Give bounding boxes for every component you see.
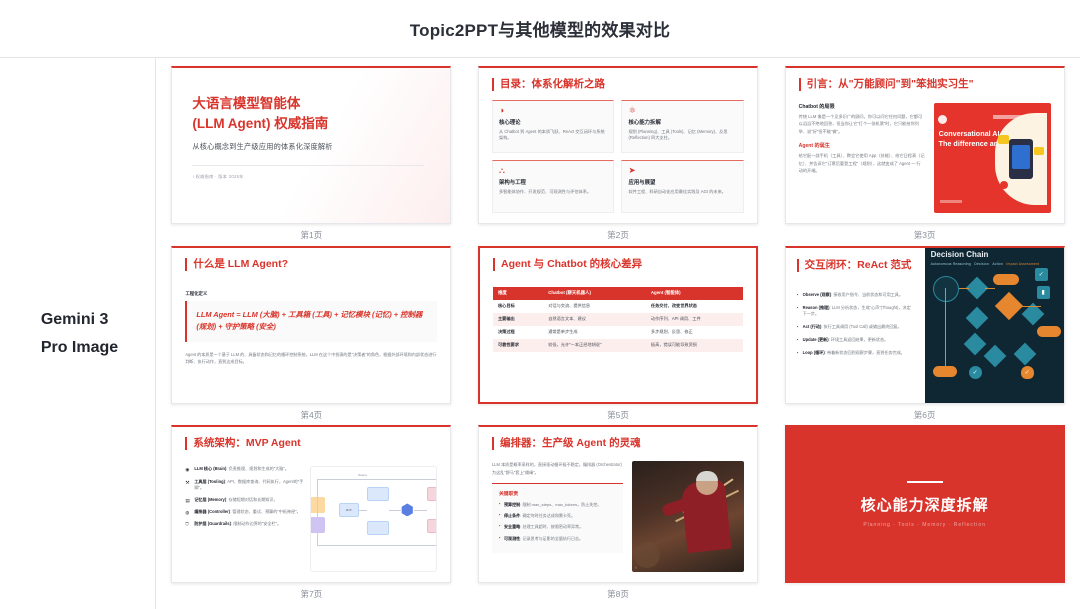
table-cell: 可靠性要求 [493,339,543,352]
diagram-node-mvp: MVP [339,503,359,517]
slide3-illustration: Conversational AI vs chatbots: The diffe… [934,103,1051,213]
responsibility-item: 预算控制: 限制 max_steps、max_tokens，防止失控。 [499,502,616,508]
page-label-3: 第3页 [914,229,936,241]
diagram-frame [317,545,438,546]
photo-background-blur [634,542,660,568]
phone-illustration [995,113,1047,205]
section-divider-rule [907,481,943,483]
slide-cell-9: 核心能力深度拆解 Planning · Tools · Memory · Ref… [775,425,1074,605]
page-header: Topic2PPT与其他模型的效果对比 [0,0,1080,58]
responsibility-text: 限制 max_steps、max_tokens，防止失控。 [522,502,601,507]
model-name: Gemini 3 Pro Image [37,306,118,360]
speech-bubble-icon [938,115,947,124]
slide-cell-3: 引言：从"万能顾问"到"笨拙实习生" Chatbot 的局限 传统 LLM 像是… [775,66,1074,246]
chat-bubble-yellow-2 [1034,147,1044,155]
sub-decision-diamond [965,306,988,329]
architecture-bullet-label: 记忆层 (Memory) [194,497,226,502]
react-bullet-label: Loop (循环) [803,350,825,355]
human-override-pill [993,274,1019,285]
react-bullet-text: 带着新状态回到观察步骤，直到任务完成。 [827,350,905,355]
slide-thumbnail-5[interactable]: Agent 与 Chatbot 的核心差异 维度 Chatbot (聊天机器人)… [478,246,758,404]
responsibility-label: 安全重略 [504,524,520,529]
slide8-title: 编排器：生产级 Agent 的灵魂 [492,437,744,450]
architecture-bullet-text: 存储短期对话和长期知识。 [228,497,277,502]
slide-thumbnail-6[interactable]: 交互闭环：ReAct 范式 Observe (观察): 接收用户指令、当前状态和… [785,246,1065,404]
table-cell: 决策过程 [493,326,543,339]
reasoning-node [933,276,959,302]
table-row: 主要输出 自然语言文本、建议 动作序列、API 调用、工件 [493,313,743,326]
slide-thumbnail-4[interactable]: 什么是 LLM Agent? 工程化定义 LLM Agent = LLM (大脑… [171,246,451,404]
diagram-frame [317,479,318,545]
governance-diamond-2 [1013,342,1036,365]
gears-icon: ⚛ [628,106,737,115]
diagram-connector [414,510,427,511]
diagram-connector [359,510,367,511]
slide4-formula-box: LLM Agent = LLM (大脑) + 工具箱 (工具) + 记忆模块 (… [185,301,437,342]
responsibility-item: 安全重略: 处理工具超时、按限密动率异常。 [499,524,616,530]
responsibilities-heading: 关键职责 [499,490,616,497]
toc-card-text: 多智能体协作、开发规范、可观测性与评估体系。 [499,189,608,196]
page-title: Topic2PPT与其他模型的效果对比 [410,16,670,41]
react-bullet-text: 环境工具返回结果，更新状态。 [831,337,888,342]
architecture-bullet-label: 防护层 (Guardrails) [194,521,231,526]
slide3-para-2: 给它配一部手机（工具）、教会它使用 App（技能）、给它日程表（记忆）、并告诉它… [799,152,925,174]
table-col-header: Agent (智能体) [646,287,743,300]
react-bullet-label: Reason (推理) [803,305,830,310]
slide-cell-6: 交互闭环：ReAct 范式 Observe (观察): 接收用户指令、当前状态和… [775,246,1074,426]
slide-thumbnail-8[interactable]: 编排器：生产级 Agent 的灵魂 LLM 本质是概率采样的，直接驱动循环极不稳… [478,425,758,583]
react-bullet: Loop (循环): 带着新状态回到观察步骤，直到任务完成。 [797,350,915,357]
react-bullet-label: Update (更新) [803,337,829,342]
react-bullet-list: Observe (观察): 接收用户指令、当前状态和可用工具。 Reason (… [797,292,915,363]
page-body: Gemini 3 Pro Image 大语言模型智能体 (LLM Agent) … [0,58,1080,609]
slide-thumbnail-1[interactable]: 大语言模型智能体 (LLM Agent) 权威指南 从核心概念到生产级应用的体系… [171,66,451,224]
diagram-node-current-memory [367,487,389,501]
connector-line [985,288,995,289]
compliance-diamond [963,332,986,355]
slide2-title: 目录：体系化解析之路 [492,78,744,91]
model-name-line1: Gemini 3 [41,306,118,333]
check-circle-icon: ✓ [969,366,982,379]
photo-figure-hair [696,471,718,481]
cover-title-line2: (LLM Agent) 权威指南 [192,114,430,134]
table-cell: 自然语言文本、建议 [543,313,646,326]
phone-screen [1012,145,1030,169]
human-reminder-pill [1037,326,1061,337]
slide-cell-8: 编排器：生产级 Agent 的灵魂 LLM 本质是概率采样的，直接驱动循环极不稳… [469,425,768,605]
toc-card-text: 软件工程、科研自动化应用最佳实践及 AGI 的未来。 [628,189,737,196]
architecture-bullet: ◍编排器 (Controller): 管理状态、重试、预算的"中枢神经"。 [185,509,303,516]
toc-card-text: 规划 (Planning)、工具 (Tools)、记忆 (Memory)、反思 … [628,129,737,142]
react-bullet-label: Act (行动) [803,324,822,329]
toc-card-heading: 核心理论 [499,118,608,126]
react-bullet-text: 接收用户指令、当前状态和可用工具。 [833,292,903,297]
slide-cell-4: 什么是 LLM Agent? 工程化定义 LLM Agent = LLM (大脑… [162,246,461,426]
architecture-bullet-label: LLM 核心 (Brain) [194,466,226,471]
cover-content: 大语言模型智能体 (LLM Agent) 权威指南 从核心概念到生产级应用的体系… [172,68,450,190]
toc-card[interactable]: ⚛ 核心能力拆解 规划 (Planning)、工具 (Tools)、记忆 (Me… [621,100,744,153]
connector-line [945,288,946,368]
slide7-title: 系统架构：MVP Agent [185,437,437,450]
decision-chain-diagram: Decision Chain Autonomous Reasoning Deci… [925,248,1064,403]
toc-card-text: 从 Chatbot 到 Agent 的本质飞跃、ReAct 交互闭环与系统架构。 [499,129,608,142]
slide4-note: Agent 的本质是一个基于 LLM 的、具备状态和记忆的循环控制系统。LLM … [185,351,437,366]
memory-icon: ▤ [185,497,189,504]
slide-cell-2: 目录：体系化解析之路 ◑ 核心理论 从 Chatbot 到 Agent 的本质飞… [469,66,768,246]
slide3-para-1: 传统 LLM 像是一个见多识广的顾问，你可以问它任何问题，它都可以滔滔不绝地回答… [799,113,925,135]
comparison-page: Topic2PPT与其他模型的效果对比 Gemini 3 Pro Image 大… [0,0,1080,609]
toc-card[interactable]: ➤ 应用与展望 软件工程、科研自动化应用最佳实践及 AGI 的未来。 [621,160,744,213]
table-cell: 对话与交流、提供信息 [543,300,646,313]
slide6-title: 交互闭环：ReAct 范式 [797,259,915,272]
cover-subtitle: 从核心概念到生产级应用的体系化深度解析 [192,142,430,152]
table-cell: 核心目标 [493,300,543,313]
photo-watermark: © [635,567,637,570]
architecture-bullet: ▤记忆层 (Memory): 存储短期对话和长期知识。 [185,497,303,504]
table-row: 决策过程 通常是单步生成 多步规划、反思、修正 [493,326,743,339]
react-bullet: Act (行动): 执行工具调用 (Tool Call) 或输出最终回复。 [797,324,915,331]
architecture-diagram: Reason MVP [310,466,438,572]
table-cell: 较低，允许"一本正经地胡说" [543,339,646,352]
diagram-hex-node [401,503,414,516]
section-divider-subtitle: Planning · Tools · Memory · Reflection [863,522,986,528]
diagram-node-label: Reason [351,472,375,478]
slide-cell-1: 大语言模型智能体 (LLM Agent) 权威指南 从核心概念到生产级应用的体系… [162,66,461,246]
responsibility-label: 可观测性 [504,536,520,541]
toc-card[interactable]: ◑ 核心理论 从 Chatbot 到 Agent 的本质飞跃、ReAct 交互闭… [492,100,615,153]
slide-grid: 大语言模型智能体 (LLM Agent) 权威指南 从核心概念到生产级应用的体系… [156,58,1080,609]
diagram-node-create-decision [427,519,438,533]
react-bullet: Reason (推理): LLM 分析状态，生成"心声"(Thought)，决定… [797,305,915,319]
model-sidebar: Gemini 3 Pro Image [0,58,156,609]
slide3-title: 引言：从"万能顾问"到"笨拙实习生" [799,78,1051,91]
slide3-text-column: Chatbot 的局限 传统 LLM 像是一个见多识广的顾问，你可以问它任何问题… [799,103,925,213]
table-cell: 任务交付、改变世界状态 [646,300,743,313]
tools-icon: ⚒ [185,479,189,486]
cover-meta: । 权威指南 · 版本 2025年 [192,174,430,180]
responsibility-text: 处理工具超时、按限密动率异常。 [522,524,583,529]
architecture-bullet-text: 限制动作边界的"安全栏"。 [233,521,281,526]
rocket-icon: ➤ [628,166,737,175]
governance-diamond [983,344,1006,367]
check-shield-icon: ✓ [1021,366,1034,379]
table-cell: 通常是单步生成 [543,326,646,339]
toc-card-heading: 架构与工程 [499,178,608,186]
architecture-bullet: ⛉防护层 (Guardrails): 限制动作边界的"安全栏"。 [185,521,303,528]
legend-item-2: Decision [974,262,989,266]
slide-thumbnail-7[interactable]: 系统架构：MVP Agent ◉LLM 核心 (Brain): 负责推理、规划和… [171,425,451,583]
table-col-header: 维度 [493,287,543,300]
responsibilities-box: 关键职责 预算控制: 限制 max_steps、max_tokens，防止失控。… [492,483,623,553]
brain-core-icon: ◉ [185,466,189,473]
table-cell: 主要输出 [493,313,543,326]
slide-thumbnail-2[interactable]: 目录：体系化解析之路 ◑ 核心理论 从 Chatbot 到 Agent 的本质飞… [478,66,758,224]
architecture-bullet-label: 工具层 (Tooling) [194,479,225,484]
chat-bubble-yellow-1 [998,135,1009,144]
decorative-bar-2 [940,200,962,203]
slide4-kicker: 工程化定义 [185,291,437,297]
conductor-photo: © [632,461,744,572]
react-bullet: Update (更新): 环境工具返回结果，更新状态。 [797,337,915,344]
architecture-bullet-text: 负责推理、规划和生成的"大脑"。 [229,466,289,471]
slide-cell-5: Agent 与 Chatbot 的核心差异 维度 Chatbot (聊天机器人)… [469,246,768,426]
legend-item-1: Autonomous Reasoning [931,262,971,266]
react-bullet-text: 执行工具调用 (Tool Call) 或输出最终回复。 [824,324,902,329]
diagram-frame [317,479,438,480]
shield-icon: ⛉ [185,521,188,528]
chart-icon: ▮ [1037,286,1050,299]
check-icon: ✓ [1035,268,1048,281]
slide3-heading-1: Chatbot 的局限 [799,103,925,110]
page-label-7: 第7页 [300,588,322,600]
diagram-node-control-decision [427,487,438,501]
architecture-bullet-list: ◉LLM 核心 (Brain): 负责推理、规划和生成的"大脑"。 ⚒工具层 (… [185,466,303,572]
page-label-2: 第2页 [607,229,629,241]
dot-red [1000,181,1008,189]
slide-thumbnail-9[interactable]: 核心能力深度拆解 Planning · Tools · Memory · Ref… [785,425,1065,583]
slide5-title: Agent 与 Chatbot 的核心差异 [493,258,743,271]
cover-title-line1: 大语言模型智能体 [192,94,430,114]
react-bullet-label: Observe (观察) [803,292,831,297]
legend-item-4: Impact Assessment [1006,262,1039,266]
page-label-4: 第4页 [300,409,322,421]
table-cell: 多步规划、反思、修正 [646,326,743,339]
section-divider-title: 核心能力深度拆解 [861,494,989,515]
toc-card-grid: ◑ 核心理论 从 Chatbot 到 Agent 的本质飞跃、ReAct 交互闭… [492,100,744,213]
responsibility-label: 预算控制 [504,502,520,507]
slide4-title: 什么是 LLM Agent? [185,258,437,271]
page-label-6: 第6页 [914,409,936,421]
responsibility-item: 停止条件: 确定何时任务达成和需卡死。 [499,513,616,519]
architecture-bullet-label: 编排器 (Controller) [194,509,230,514]
responsibility-text: 记录思考与足影的全量执行日志。 [522,536,583,541]
toc-card-heading: 核心能力拆解 [628,118,737,126]
hierarchy-icon: ⛬ [499,166,608,175]
toc-card[interactable]: ⛬ 架构与工程 多智能体协作、开发规范、可观测性与评估体系。 [492,160,615,213]
legend-item-3: Action [992,262,1003,266]
slide8-lead: LLM 本质是概率采样的，直接驱动循环极不稳定。编排器 (Orchestrato… [492,461,623,475]
page-label-1: 第1页 [300,229,322,241]
diagram-title: Decision Chain [931,250,989,259]
table-header-row: 维度 Chatbot (聊天机器人) Agent (智能体) [493,287,743,300]
table-cell: 动作序列、API 调用、工件 [646,313,743,326]
toc-card-heading: 应用与展望 [628,178,737,186]
responsibility-text: 确定何时任务达成和需卡死。 [522,513,575,518]
brain-icon: ◑ [499,106,608,115]
architecture-bullet: ⚒工具层 (Tooling): API、数据库查询、代码执行，Agent的"手脚… [185,479,303,492]
table-cell: 极高，错误可能导致资损 [646,339,743,352]
model-name-line2: Pro Image [41,334,118,361]
architecture-bullet: ◉LLM 核心 (Brain): 负责推理、规划和生成的"大脑"。 [185,466,303,473]
responsibility-item: 可观测性: 记录思考与足影的全量执行日志。 [499,536,616,542]
page-label-5: 第5页 [607,409,629,421]
slide3-heading-2: Agent 的诞生 [799,142,925,149]
slide4-formula: LLM Agent = LLM (大脑) + 工具箱 (工具) + 记忆模块 (… [196,309,428,334]
table-row: 可靠性要求 较低，允许"一本正经地胡说" 极高，错误可能导致资损 [493,339,743,352]
diagram-connector [389,510,401,511]
table-row: 核心目标 对话与交流、提供信息 任务交付、改变世界状态 [493,300,743,313]
slide-thumbnail-3[interactable]: 引言：从"万能顾问"到"笨拙实习生" Chatbot 的局限 传统 LLM 像是… [785,66,1065,224]
cover-divider [192,165,424,166]
comparison-table: 维度 Chatbot (聊天机器人) Agent (智能体) 核心目标 对话与交… [493,287,743,352]
responsibility-label: 停止条件 [504,513,520,518]
page-label-8: 第8页 [607,588,629,600]
react-bullet: Observe (观察): 接收用户指令、当前状态和可用工具。 [797,292,915,299]
slide-cell-7: 系统架构：MVP Agent ◉LLM 核心 (Brain): 负责推理、规划和… [162,425,461,605]
controller-icon: ◍ [185,509,189,516]
connector-line [1019,306,1041,307]
connector-line [959,288,969,289]
architecture-bullet-text: 管理状态、重试、预算的"中枢神经"。 [232,509,300,514]
table-col-header: Chatbot (聊天机器人) [543,287,646,300]
diagram-node-short-memory [367,521,389,535]
diagram-legend: Autonomous Reasoning Decision Action Imp… [931,262,1040,266]
